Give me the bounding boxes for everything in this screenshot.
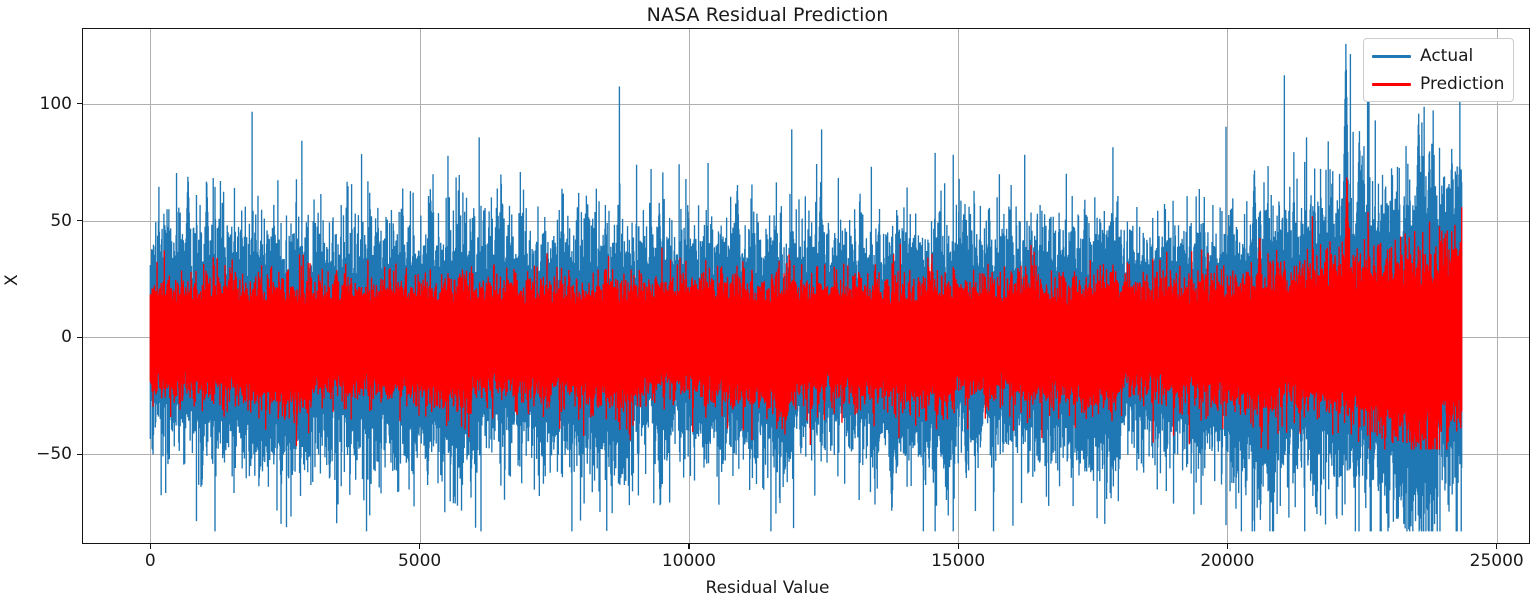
y-tick-mark — [77, 454, 82, 455]
y-tick-label: 100 — [12, 94, 72, 114]
plot-area — [82, 28, 1530, 544]
x-tick-label: 10000 — [629, 551, 749, 571]
y-tick-label: −50 — [12, 444, 72, 464]
x-tick-mark — [419, 544, 420, 549]
legend-swatch-prediction — [1372, 83, 1411, 86]
series-canvas — [83, 29, 1529, 543]
x-tick-label: 0 — [90, 551, 210, 571]
y-axis-label: X — [2, 274, 22, 286]
chart-legend[interactable]: Actual Prediction — [1363, 38, 1514, 102]
x-tick-label: 20000 — [1167, 551, 1287, 571]
legend-item-actual[interactable]: Actual — [1372, 45, 1504, 67]
x-tick-mark — [1496, 544, 1497, 549]
x-axis-label: Residual Value — [0, 578, 1535, 598]
x-tick-label: 25000 — [1437, 551, 1535, 571]
x-tick-label: 5000 — [360, 551, 480, 571]
y-tick-label: 50 — [12, 211, 72, 231]
x-tick-mark — [150, 544, 151, 549]
x-tick-mark — [958, 544, 959, 549]
y-tick-mark — [77, 337, 82, 338]
y-tick-mark — [77, 103, 82, 104]
x-tick-mark — [1227, 544, 1228, 549]
series-layer — [83, 29, 1529, 543]
chart-title: NASA Residual Prediction — [0, 4, 1535, 26]
x-tick-mark — [688, 544, 689, 549]
matplotlib-figure: NASA Residual Prediction X Residual Valu… — [0, 0, 1535, 607]
legend-label-actual: Actual — [1420, 48, 1473, 65]
y-tick-mark — [77, 220, 82, 221]
y-tick-label: 0 — [12, 327, 72, 347]
x-tick-label: 15000 — [898, 551, 1018, 571]
legend-swatch-actual — [1372, 55, 1411, 58]
legend-label-prediction: Prediction — [1420, 76, 1504, 93]
legend-item-prediction[interactable]: Prediction — [1372, 73, 1504, 95]
